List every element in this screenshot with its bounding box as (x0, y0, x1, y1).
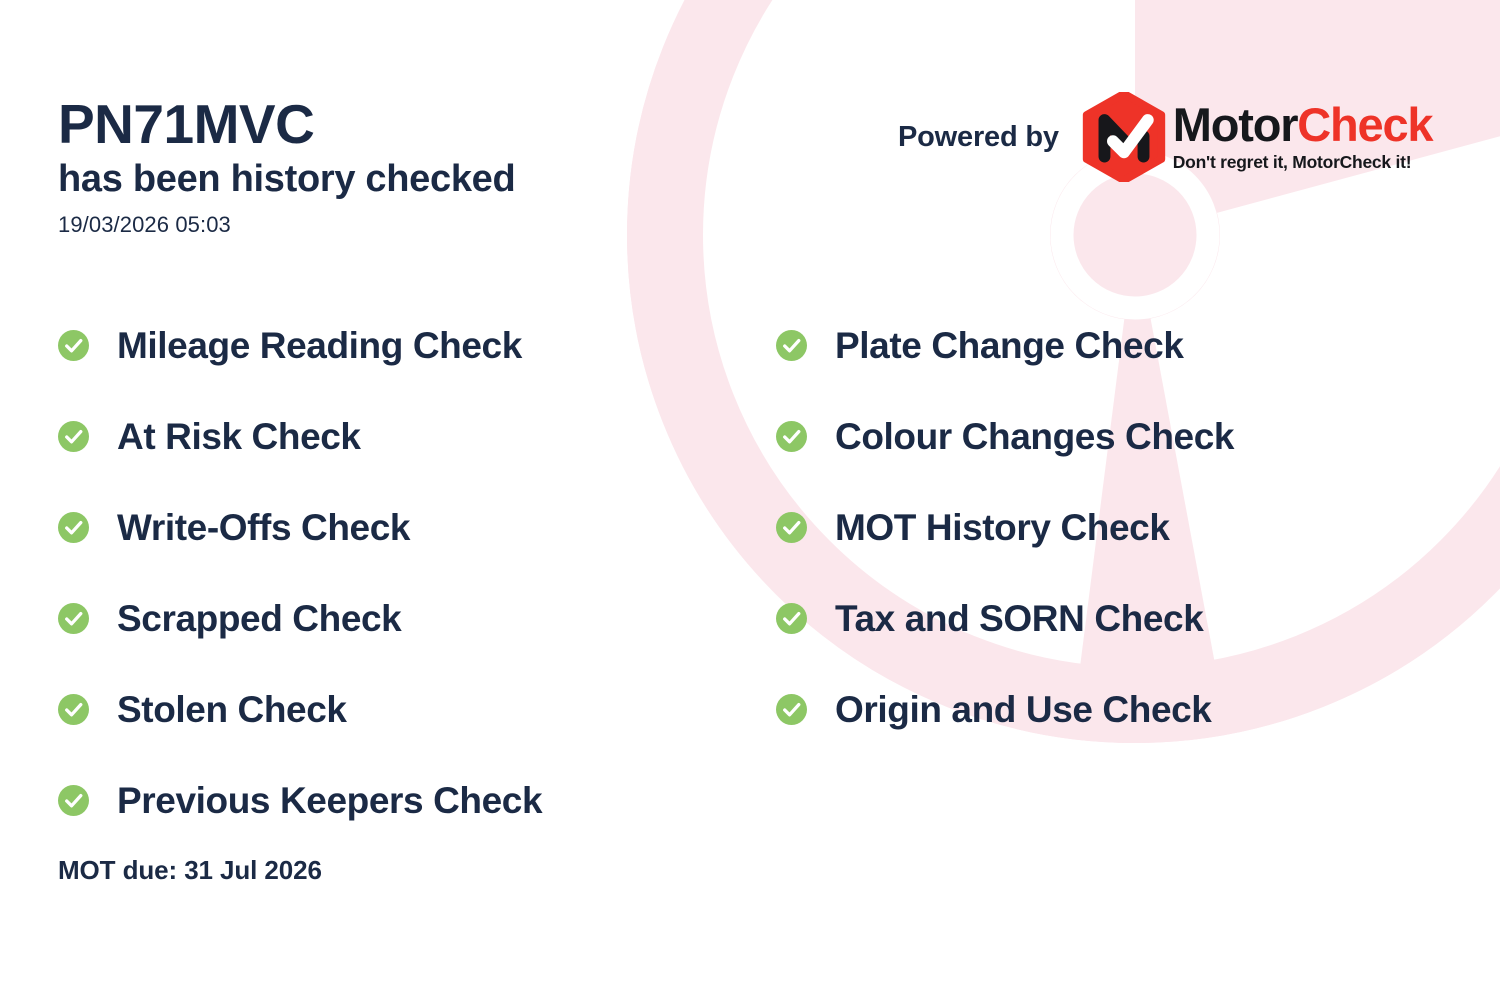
motorcheck-hexagon-logo-icon (1081, 92, 1167, 182)
green-check-circle-icon (776, 512, 807, 543)
list-item: Plate Change Check (776, 300, 1234, 391)
green-check-circle-icon (58, 694, 89, 725)
mot-due-text: MOT due: 31 Jul 2026 (58, 855, 322, 886)
checks-column-right: Plate Change Check Colour Changes Check … (776, 300, 1234, 755)
check-label: Scrapped Check (117, 600, 401, 637)
check-label: Write-Offs Check (117, 509, 410, 546)
logo-words: MotorCheck (1173, 101, 1433, 148)
check-label: Previous Keepers Check (117, 782, 542, 819)
check-timestamp: 19/03/2026 05:03 (58, 212, 738, 238)
powered-by-block: Powered by MotorCheck Don't regret it, M… (898, 94, 1432, 180)
green-check-circle-icon (58, 421, 89, 452)
check-label: At Risk Check (117, 418, 361, 455)
green-check-circle-icon (776, 421, 807, 452)
checks-column-left: Mileage Reading Check At Risk Check Writ… (58, 300, 542, 846)
check-label: MOT History Check (835, 509, 1170, 546)
logo-word-check: Check (1297, 98, 1432, 151)
header-subtitle: has been history checked (58, 156, 738, 204)
green-check-circle-icon (58, 330, 89, 361)
list-item: At Risk Check (58, 391, 542, 482)
check-label: Stolen Check (117, 691, 347, 728)
check-label: Tax and SORN Check (835, 600, 1203, 637)
page-title: PN71MVC (58, 96, 738, 152)
list-item: Mileage Reading Check (58, 300, 542, 391)
list-item: Write-Offs Check (58, 482, 542, 573)
logo-word-motor: Motor (1173, 98, 1298, 151)
green-check-circle-icon (58, 785, 89, 816)
check-label: Plate Change Check (835, 327, 1184, 364)
list-item: Origin and Use Check (776, 664, 1234, 755)
list-item: Tax and SORN Check (776, 573, 1234, 664)
check-label: Mileage Reading Check (117, 327, 522, 364)
check-label: Colour Changes Check (835, 418, 1234, 455)
green-check-circle-icon (776, 694, 807, 725)
list-item: Colour Changes Check (776, 391, 1234, 482)
header-block: PN71MVC has been history checked 19/03/2… (58, 96, 738, 238)
history-check-card: PN71MVC has been history checked 19/03/2… (0, 0, 1500, 1000)
card-content: PN71MVC has been history checked 19/03/2… (0, 0, 1500, 1000)
logo-tagline: Don't regret it, MotorCheck it! (1173, 152, 1433, 173)
green-check-circle-icon (58, 512, 89, 543)
list-item: Previous Keepers Check (58, 755, 542, 846)
green-check-circle-icon (58, 603, 89, 634)
check-label: Origin and Use Check (835, 691, 1212, 728)
motorcheck-wordmark: MotorCheck Don't regret it, MotorCheck i… (1173, 101, 1433, 173)
powered-by-label: Powered by (898, 121, 1059, 154)
list-item: Stolen Check (58, 664, 542, 755)
green-check-circle-icon (776, 330, 807, 361)
green-check-circle-icon (776, 603, 807, 634)
list-item: Scrapped Check (58, 573, 542, 664)
list-item: MOT History Check (776, 482, 1234, 573)
